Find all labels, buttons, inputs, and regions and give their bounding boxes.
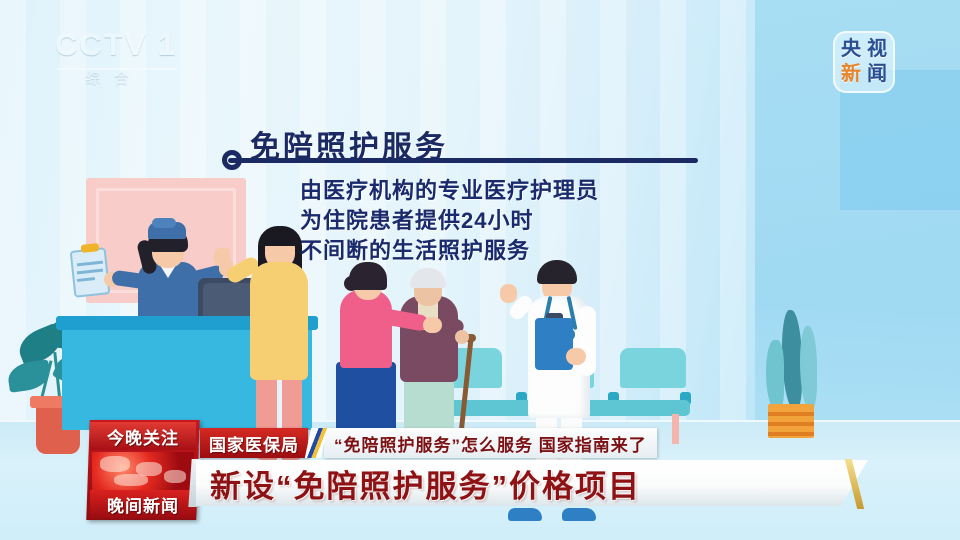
program-badge-top: 今晚关注 [90,422,196,450]
cctv-logo-text: CCTV 1 [55,28,205,62]
bullet-rule [228,158,698,163]
infographic-body-line-1: 由医疗机构的专业医疗护理员 [300,176,599,206]
cctv-logo-rule [57,68,177,70]
program-badge-bottom: 晚间新闻 [90,490,196,518]
shoe [508,508,542,521]
news-badge-char-3: 新 [838,62,864,87]
source-org-label: 国家医保局 [209,431,299,456]
infographic-body: 由医疗机构的专业医疗护理员 为住院患者提供24小时 不间断的生活照护服务 [300,176,599,266]
globe-icon [92,452,194,492]
program-badge-bottom-label: 晚间新闻 [107,492,179,517]
news-badge-char-1: 央 [838,37,864,62]
infographic-body-line-2: 为住院患者提供24小时 [300,206,599,236]
headline-bar: 新设“免陪照护服务”价格项目 [196,460,868,506]
news-badge-char-4: 闻 [864,62,890,87]
subheadline-label: “免陪照护服务”怎么服务 国家指南来了 [334,431,647,456]
cctv-logo-subtitle: 综合 [85,67,205,88]
news-badge-char-2: 视 [864,37,890,62]
headline-label: 新设“免陪照护服务”价格项目 [210,461,641,506]
lower-third-subrow: 国家医保局 “免陪照护服务”怎么服务 国家指南来了 [200,428,657,458]
cctv-news-badge: 央 视 新 闻 [833,31,895,93]
program-badge-top-label: 今晚关注 [107,424,179,449]
cctv-logo: CCTV 1 综合 [55,28,205,98]
broadcast-frame: CCTV 1 综合 央 视 新 闻 [0,0,960,540]
shoe [562,508,596,521]
subheadline-bar: “免陪照护服务”怎么服务 国家指南来了 [324,428,657,458]
source-org-tag: 国家医保局 [200,428,308,458]
infographic-body-line-3: 不间断的生活照护服务 [300,236,599,266]
